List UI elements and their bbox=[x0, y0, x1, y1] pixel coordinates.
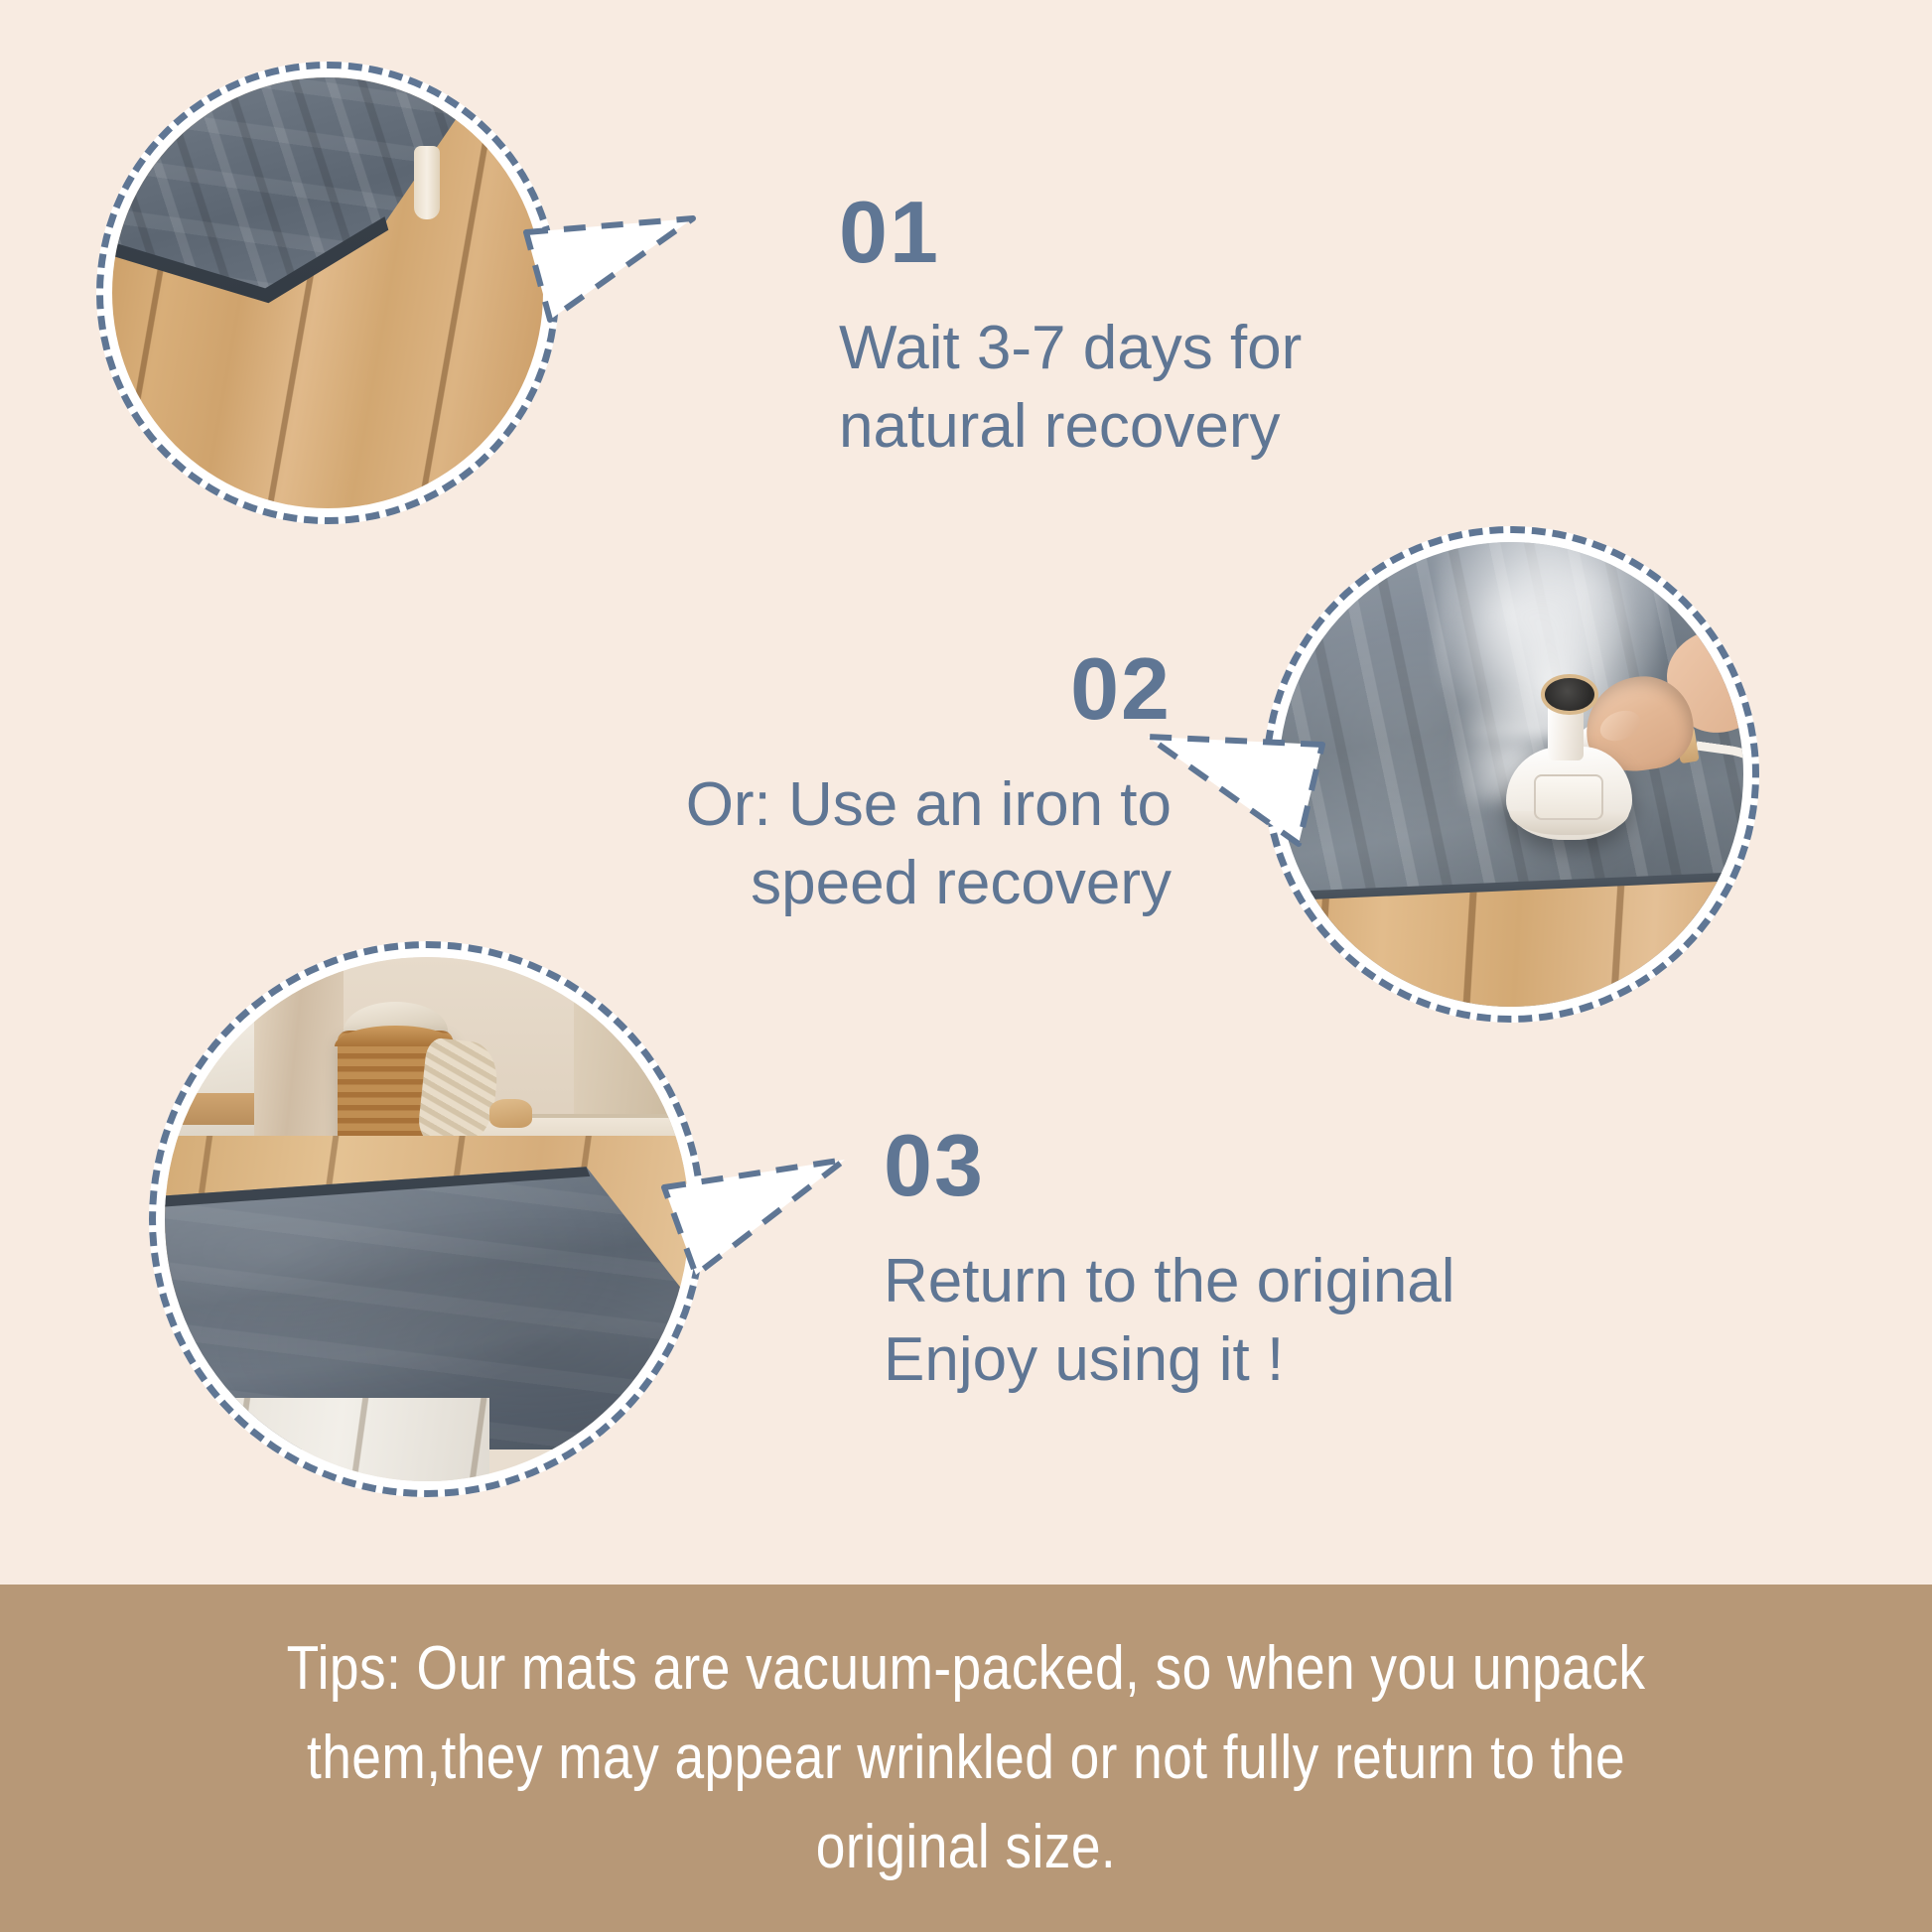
oak-floor bbox=[1279, 879, 1743, 1007]
steamer-dial bbox=[1541, 674, 1597, 715]
pointer-triangle bbox=[1148, 737, 1322, 844]
pale-floor-planks bbox=[186, 1398, 489, 1481]
step-2-description: Or: Use an iron to speed recovery bbox=[397, 766, 1172, 922]
mat-on-oak-floor-image bbox=[112, 77, 543, 508]
tips-banner: Tips: Our mats are vacuum-packed, so whe… bbox=[0, 1585, 1932, 1932]
bedroom-rug-image bbox=[165, 957, 689, 1481]
pointer-triangle bbox=[526, 218, 693, 320]
floor-grain-texture bbox=[186, 1398, 489, 1481]
step-1-text-block: 01 Wait 3-7 days for natural recovery bbox=[839, 189, 1534, 466]
step-1-pointer bbox=[516, 175, 705, 324]
step-1-number: 01 bbox=[839, 189, 1534, 276]
furniture-leg bbox=[414, 146, 440, 219]
step-2-photo bbox=[1279, 542, 1743, 1007]
pointer-triangle bbox=[664, 1160, 845, 1275]
wooden-toy bbox=[489, 1099, 531, 1128]
step-2-text-block: 02 Or: Use an iron to speed recovery bbox=[397, 645, 1172, 922]
step-2-photo-medallion bbox=[1263, 526, 1759, 1023]
step-3-number: 03 bbox=[884, 1122, 1718, 1209]
step-1-photo bbox=[112, 77, 543, 508]
steamer-on-mat-image bbox=[1279, 542, 1743, 1007]
step-3-photo bbox=[165, 957, 689, 1481]
step-1-photo-medallion bbox=[96, 62, 559, 524]
step-1-description: Wait 3-7 days for natural recovery bbox=[839, 310, 1534, 466]
step-3-text-block: 03 Return to the original Enjoy using it… bbox=[884, 1122, 1718, 1399]
infographic-canvas: 01 Wait 3-7 days for natural recovery bbox=[0, 0, 1932, 1932]
step-3-pointer bbox=[650, 1114, 859, 1283]
tips-banner-text: Tips: Our mats are vacuum-packed, so whe… bbox=[214, 1624, 1718, 1892]
step-3-photo-medallion bbox=[149, 941, 705, 1497]
floor-grain-texture bbox=[1279, 879, 1743, 1007]
steamer-vent-panel bbox=[1534, 774, 1603, 820]
step-2-number: 02 bbox=[397, 645, 1172, 733]
step-3-description: Return to the original Enjoy using it ! bbox=[884, 1243, 1718, 1399]
